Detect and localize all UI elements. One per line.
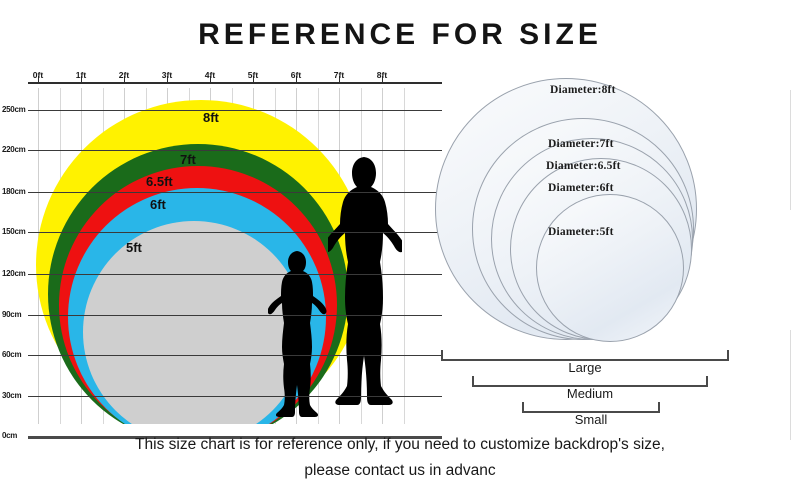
band-label-8ft: 8ft <box>203 110 219 125</box>
gridline-horizontal <box>28 355 442 356</box>
y-axis-label: 250cm <box>2 105 25 114</box>
disc-Diameter-5ft <box>536 194 684 342</box>
y-axis-label: 220cm <box>2 145 25 154</box>
x-axis-label: 2ft <box>119 70 129 80</box>
woman-silhouette <box>328 154 402 424</box>
x-axis-label: 7ft <box>334 70 344 80</box>
x-axis-label: 3ft <box>162 70 172 80</box>
y-axis-label: 180cm <box>2 187 25 196</box>
band-label-6ft: 6ft <box>150 197 166 212</box>
gridline-horizontal <box>28 315 442 316</box>
child-silhouette <box>268 249 328 424</box>
gridline-horizontal <box>28 232 442 233</box>
y-axis-label: 30cm <box>2 391 21 400</box>
x-axis-label: 8ft <box>377 70 387 80</box>
size-reference-chart: REFERENCE FOR SIZE 0ft1ft2ft3ft4ft5ft6ft… <box>0 0 800 488</box>
y-axis-label: 60cm <box>2 350 21 359</box>
bracket-label-small: Small <box>575 412 608 427</box>
band-label-7ft: 7ft <box>180 152 196 167</box>
right-edge-line <box>790 90 791 210</box>
y-axis-label: 90cm <box>2 310 21 319</box>
band-label-6.5ft: 6.5ft <box>146 174 173 189</box>
disc-diagram: Diameter:8ftDiameter:7ftDiameter:6.5ftDi… <box>420 60 800 440</box>
x-axis-label: 6ft <box>291 70 301 80</box>
disc-label: Diameter:7ft <box>548 138 614 150</box>
disc-label: Diameter:6ft <box>548 182 614 194</box>
disclaimer-caption: This size chart is for reference only, i… <box>0 432 800 484</box>
x-axis-line <box>28 82 442 84</box>
disc-label: Diameter:5ft <box>548 226 614 238</box>
plot-area <box>28 88 414 424</box>
x-axis-label: 4ft <box>205 70 215 80</box>
y-axis-label: 120cm <box>2 269 25 278</box>
gridline-horizontal <box>28 192 442 193</box>
disc-label: Diameter:8ft <box>550 84 616 96</box>
right-edge-line-lower <box>790 330 791 440</box>
page-title: REFERENCE FOR SIZE <box>0 18 800 52</box>
band-label-5ft: 5ft <box>126 240 142 255</box>
height-comparison-chart: 0ft1ft2ft3ft4ft5ft6ft7ft8ft 250cm220cm18… <box>0 70 420 428</box>
gridline-horizontal <box>28 396 442 397</box>
gridline-vertical <box>404 88 405 424</box>
y-axis-label: 150cm <box>2 227 25 236</box>
caption-line-2: please contact us in advanc <box>0 458 800 484</box>
x-axis: 0ft1ft2ft3ft4ft5ft6ft7ft8ft <box>28 70 442 88</box>
x-axis-label: 0ft <box>33 70 43 80</box>
bracket-label-medium: Medium <box>567 386 613 401</box>
gridline-horizontal <box>28 110 442 111</box>
gridline-horizontal <box>28 274 442 275</box>
gridline-horizontal <box>28 150 442 151</box>
bracket-label-large: Large <box>568 360 601 375</box>
x-axis-label: 5ft <box>248 70 258 80</box>
x-axis-label: 1ft <box>76 70 86 80</box>
caption-line-1: This size chart is for reference only, i… <box>0 432 800 458</box>
disc-label: Diameter:6.5ft <box>546 160 621 172</box>
